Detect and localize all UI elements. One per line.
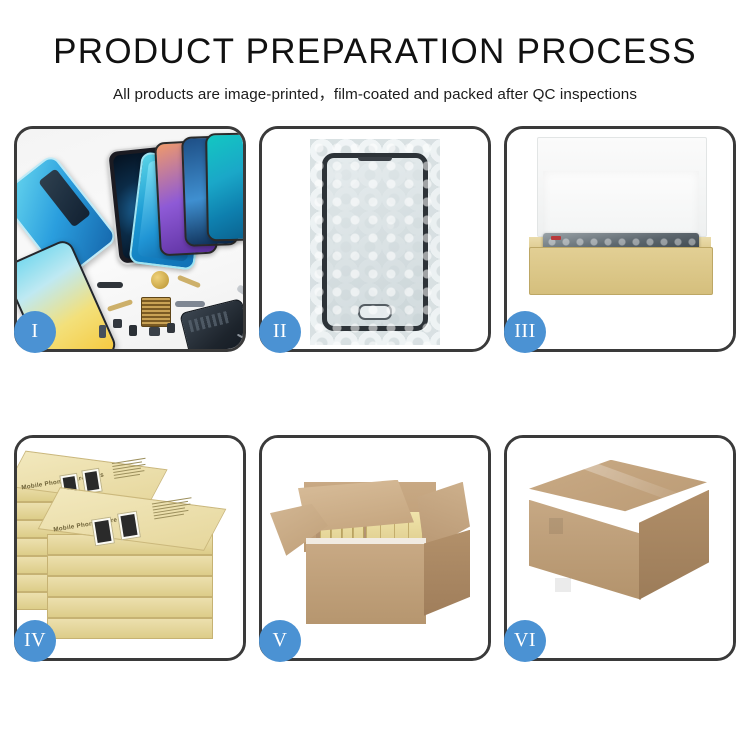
box-screen-thumb-3 bbox=[91, 516, 115, 546]
step-image-4: Mobile Phone Spare Parts Mobile Phone Sp… bbox=[17, 438, 243, 658]
step-badge-2: II bbox=[259, 311, 301, 353]
home-button bbox=[358, 304, 392, 320]
small-part-4 bbox=[167, 323, 175, 333]
product-preparation-infographic: PRODUCT PREPARATION PROCESS All products… bbox=[0, 0, 750, 750]
stack-box-r3 bbox=[47, 576, 213, 597]
flex-cable-3 bbox=[175, 301, 205, 307]
phone-screen-teal bbox=[205, 132, 243, 241]
step-badge-1: I bbox=[14, 311, 56, 353]
page-title: PRODUCT PREPARATION PROCESS bbox=[0, 34, 750, 71]
carton-handle-slot-bottom bbox=[555, 578, 571, 592]
flex-cable-1 bbox=[107, 299, 133, 312]
small-part-5 bbox=[99, 325, 106, 338]
stack-box-r5 bbox=[47, 618, 213, 639]
page-subtitle: All products are image-printed，film-coat… bbox=[0, 82, 750, 104]
step-image-3 bbox=[507, 129, 733, 349]
carton-handle-slot-top bbox=[549, 518, 563, 534]
stack-box-r4 bbox=[47, 597, 213, 618]
small-part-3 bbox=[149, 327, 160, 336]
label-sticker bbox=[551, 236, 561, 240]
sealed-carton-side bbox=[639, 490, 709, 600]
step-panel-5: V bbox=[259, 435, 491, 661]
screws-group bbox=[237, 335, 243, 349]
wrapped-screen bbox=[322, 153, 428, 331]
chip-array-part bbox=[141, 297, 171, 327]
small-part-2 bbox=[129, 325, 137, 336]
step-image-2 bbox=[262, 129, 488, 349]
small-part-1 bbox=[113, 319, 122, 328]
speaker-part bbox=[97, 282, 123, 288]
step-image-1 bbox=[17, 129, 243, 349]
box-screen-thumb-4 bbox=[117, 510, 141, 540]
spare-parts-cluster bbox=[89, 269, 243, 349]
kraft-box-front bbox=[529, 247, 713, 295]
step-badge-5: V bbox=[259, 620, 301, 662]
step-panel-4: Mobile Phone Spare Parts Mobile Phone Sp… bbox=[14, 435, 246, 661]
header: PRODUCT PREPARATION PROCESS All products… bbox=[0, 0, 750, 104]
steps-grid: I II III bbox=[14, 126, 736, 661]
step-image-5 bbox=[262, 438, 488, 658]
bubble-wrap-sheet bbox=[310, 139, 440, 345]
step-badge-4: IV bbox=[14, 620, 56, 662]
step-image-6 bbox=[507, 438, 733, 658]
step-panel-1: I bbox=[14, 126, 246, 352]
step-badge-3: III bbox=[504, 311, 546, 353]
step-badge-6: VI bbox=[504, 620, 546, 662]
carton-front-wall bbox=[306, 544, 426, 624]
carton-right-wall bbox=[424, 530, 470, 616]
box-stack: Mobile Phone Spare Parts Mobile Phone Sp… bbox=[17, 438, 243, 658]
step-panel-2: II bbox=[259, 126, 491, 352]
stack-box-r2 bbox=[47, 555, 213, 576]
sealed-carton-front bbox=[529, 500, 641, 600]
flex-cable-2 bbox=[177, 274, 201, 288]
step-panel-6: VI bbox=[504, 435, 736, 661]
coil-part bbox=[151, 271, 169, 289]
step-panel-3: III bbox=[504, 126, 736, 352]
